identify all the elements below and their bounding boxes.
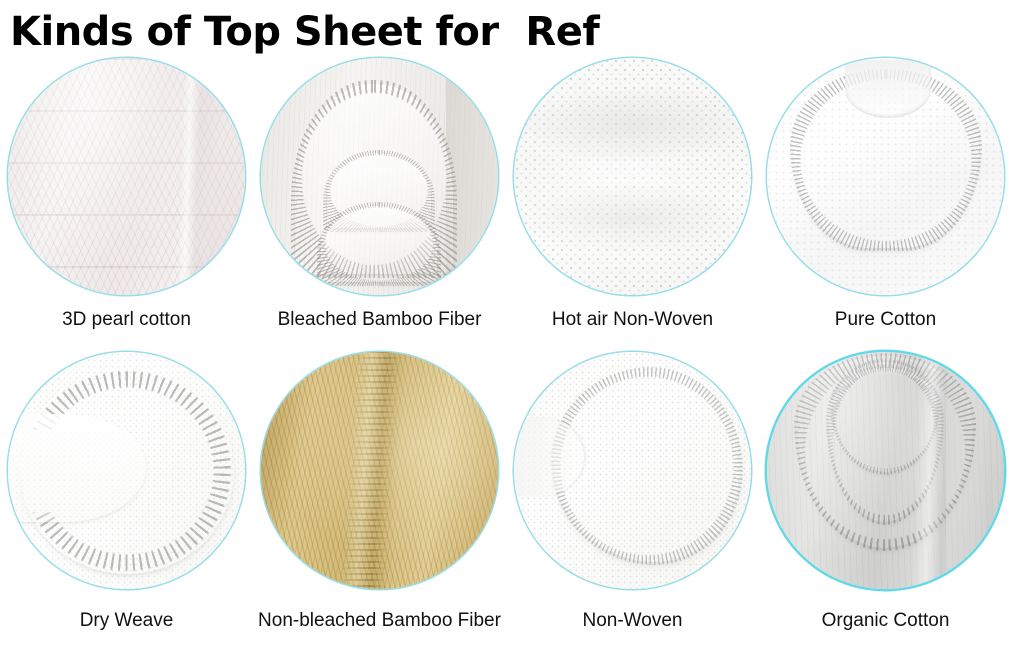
fabric-fold-edge	[946, 352, 992, 589]
swatch-item-non-bleached-bamboo-fiber[interactable]: Non-bleached Bamboo Fiber	[253, 352, 506, 633]
fabric-seam-line	[340, 352, 401, 589]
swatch-image-dry-weave[interactable]	[8, 352, 245, 589]
emboss-arc-inner	[833, 368, 937, 472]
emboss-heart-notch	[845, 60, 931, 118]
fabric-texture-pure-cotton	[767, 58, 1004, 295]
fabric-texture-organic-cotton	[767, 352, 1004, 589]
swatch-image-3d-pearl-cotton[interactable]	[8, 58, 245, 295]
swatch-image-hot-air-non-woven[interactable]	[514, 58, 751, 295]
swatch-label-dry-weave: Dry Weave	[0, 609, 253, 633]
swatch-image-bleached-bamboo-fiber[interactable]	[261, 58, 498, 295]
swatch-label-non-bleached-bamboo-fiber: Non-bleached Bamboo Fiber	[253, 609, 506, 633]
swatch-image-non-bleached-bamboo-fiber[interactable]	[261, 352, 498, 589]
swatch-item-dry-weave[interactable]: Dry Weave	[0, 352, 253, 633]
fabric-texture-hot-air-non-woven	[514, 58, 751, 295]
swatch-item-bleached-bamboo-fiber[interactable]: Bleached Bamboo Fiber	[253, 58, 506, 332]
fabric-texture-dry-weave	[8, 352, 245, 589]
emboss-arch-inner	[321, 206, 437, 282]
swatch-label-3d-pearl-cotton: 3D pearl cotton	[0, 308, 253, 332]
swatch-label-pure-cotton: Pure Cotton	[759, 308, 1012, 332]
swatch-item-pure-cotton[interactable]: Pure Cotton	[759, 58, 1012, 332]
swatch-image-organic-cotton[interactable]	[767, 352, 1004, 589]
swatch-item-3d-pearl-cotton[interactable]: 3D pearl cotton	[0, 58, 253, 332]
fabric-texture-non-woven	[514, 352, 751, 589]
swatch-item-organic-cotton[interactable]: Organic Cotton	[759, 352, 1012, 633]
swatch-image-pure-cotton[interactable]	[767, 58, 1004, 295]
swatch-image-non-woven[interactable]	[514, 352, 751, 589]
fabric-texture-non-bleached-bamboo-fiber	[261, 352, 498, 589]
fabric-texture-bleached-bamboo-fiber	[261, 58, 498, 295]
fabric-texture-3d-pearl-cotton	[8, 58, 245, 295]
swatch-label-bleached-bamboo-fiber: Bleached Bamboo Fiber	[253, 308, 506, 332]
swatch-grid: 3D pearl cotton Bleached Bamboo Fiber Ho…	[0, 0, 1013, 648]
page-title: Kinds of Top Sheet for Ref	[10, 8, 599, 56]
emboss-arc-outer	[797, 356, 973, 548]
swatch-label-organic-cotton: Organic Cotton	[759, 609, 1012, 633]
swatch-item-non-woven[interactable]: Non-Woven	[506, 352, 759, 633]
swatch-item-hot-air-non-woven[interactable]: Hot air Non-Woven	[506, 58, 759, 332]
swatch-label-hot-air-non-woven: Hot air Non-Woven	[506, 308, 759, 332]
emboss-arc-middle	[829, 362, 941, 522]
swatch-label-non-woven: Non-Woven	[506, 609, 759, 633]
